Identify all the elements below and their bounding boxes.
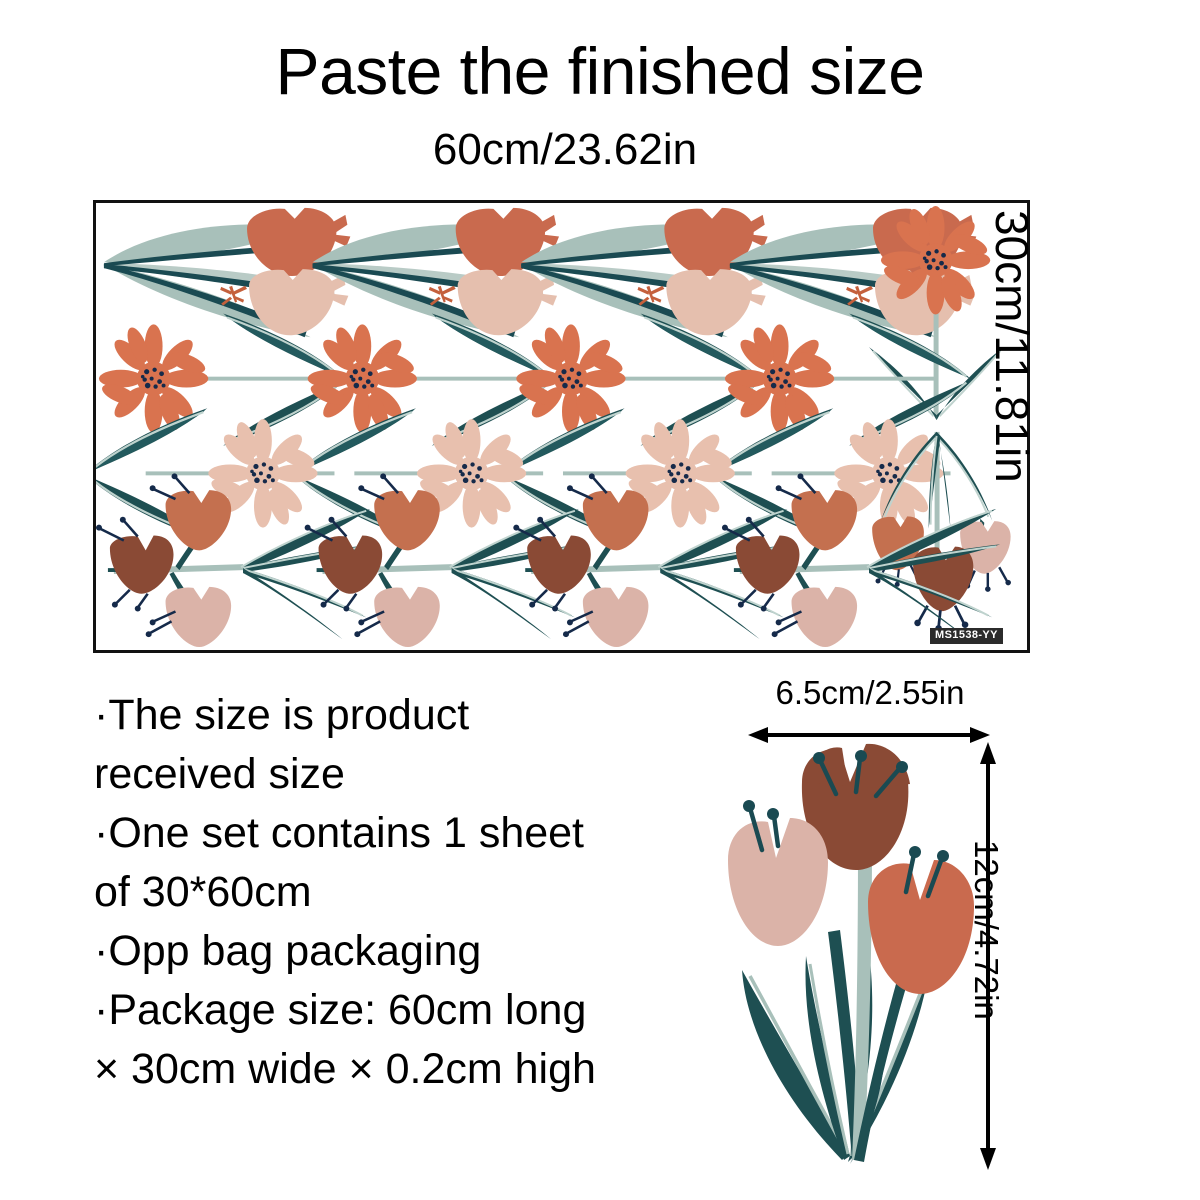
tulip-terracotta	[868, 846, 974, 994]
list-item: ·The size is product received size	[94, 686, 614, 804]
list-item: ·One set contains 1 sheet of 30*60cm	[94, 804, 614, 922]
motif-width-dimension-label: 6.5cm/2.55in	[745, 676, 995, 709]
sheet-height-dimension-label: 30cm/11.81in	[981, 210, 1043, 650]
product-details-list: ·The size is product received size ·One …	[94, 686, 614, 1099]
page-title: Paste the finished size	[0, 38, 1200, 104]
tulip-bouquet-artwork	[716, 742, 978, 1182]
list-item: ·Package size: 60cm long × 30cm wide × 0…	[94, 981, 614, 1099]
product-size-infographic: Paste the finished size 60cm/23.62in	[0, 0, 1200, 1200]
sticker-sheet-preview	[93, 200, 1030, 653]
motif-row-terracotta-daisies	[99, 314, 970, 446]
sheet-width-dimension-label: 60cm/23.62in	[0, 128, 1130, 172]
list-item: ·Opp bag packaging	[94, 922, 614, 981]
sticker-sheet-artwork	[96, 203, 1027, 650]
tulip-bouquet-illustration	[716, 742, 978, 1182]
